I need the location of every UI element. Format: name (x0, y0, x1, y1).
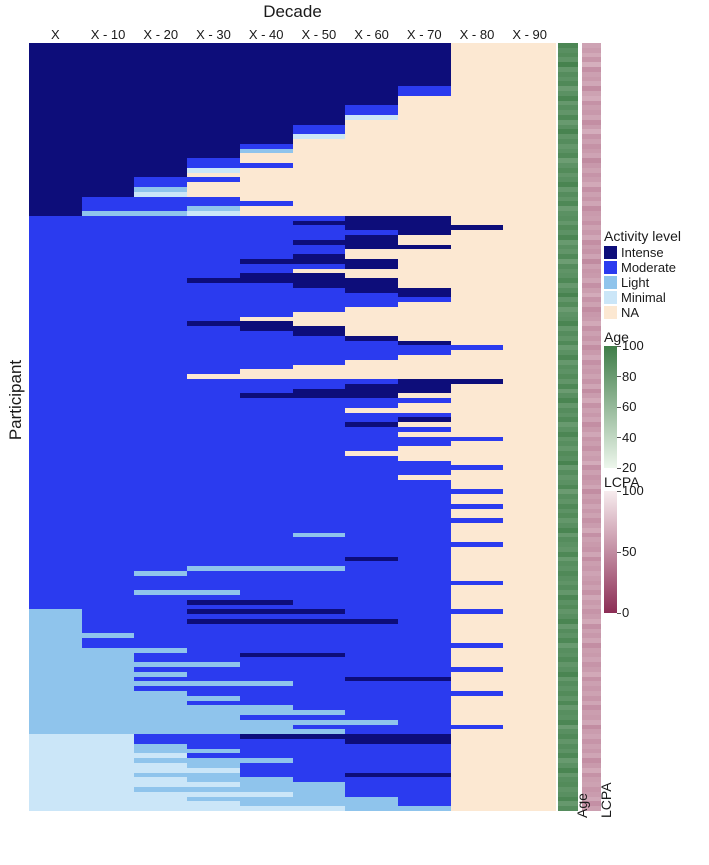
legend-swatch-icon (604, 261, 617, 274)
heatmap-cell (345, 806, 451, 811)
lcpa-colorbar (604, 491, 617, 613)
colorbar-tick-label: 40 (622, 430, 636, 445)
column-header-7: X - 70 (398, 27, 451, 43)
colorbar-tick-label: 80 (622, 369, 636, 384)
column-header-8: X - 80 (451, 27, 504, 43)
colorbar-tick-label: 100 (622, 483, 644, 498)
chart-title: Decade (29, 2, 556, 22)
legend-item-moderate[interactable]: Moderate (604, 260, 709, 275)
colorbar-tickmark-icon (617, 346, 621, 347)
heatmap-cell (451, 806, 556, 811)
lcpa-colorbar-wrap: 100500 (604, 491, 709, 613)
column-header-row: XX - 10X - 20X - 30X - 40X - 50X - 60X -… (29, 27, 556, 43)
age-colorbar (604, 346, 617, 468)
lcpa-annotation-strip (582, 43, 601, 811)
heatmap-figure: Decade XX - 10X - 20X - 30X - 40X - 50X … (0, 0, 709, 865)
colorbar-tick-label: 0 (622, 605, 629, 620)
colorbar-tickmark-icon (617, 468, 621, 469)
column-header-3: X - 30 (187, 27, 240, 43)
legend-item-label: Light (621, 276, 649, 289)
legend-lcpa-title: LCPA (604, 474, 709, 490)
legend-item-minimal[interactable]: Minimal (604, 290, 709, 305)
column-header-1: X - 10 (82, 27, 135, 43)
colorbar-tickmark-icon (617, 437, 621, 438)
colorbar-tickmark-icon (617, 376, 621, 377)
legend-item-na[interactable]: NA (604, 305, 709, 320)
heatmap-row (29, 806, 556, 811)
heatmap-cell (29, 806, 346, 811)
column-header-5: X - 50 (293, 27, 346, 43)
age-annotation-strip (558, 43, 578, 811)
column-header-4: X - 40 (240, 27, 293, 43)
lcpa-strip-label: LCPA (598, 782, 614, 818)
legend: Activity level IntenseModerateLightMinim… (604, 228, 709, 613)
colorbar-tick-label: 50 (622, 544, 636, 559)
legend-swatch-icon (604, 291, 617, 304)
age-strip-label: Age (574, 793, 590, 818)
column-header-0: X (29, 27, 82, 43)
legend-item-label: Minimal (621, 291, 666, 304)
legend-swatch-icon (604, 306, 617, 319)
colorbar-tick-label: 100 (622, 338, 644, 353)
column-header-9: X - 90 (503, 27, 556, 43)
legend-item-label: NA (621, 306, 639, 319)
colorbar-tick-label: 20 (622, 460, 636, 475)
legend-item-label: Moderate (621, 261, 676, 274)
colorbar-tick-label: 60 (622, 399, 636, 414)
colorbar-tickmark-icon (617, 491, 621, 492)
y-axis-title: Participant (6, 340, 26, 460)
legend-item-label: Intense (621, 246, 664, 259)
legend-item-intense[interactable]: Intense (604, 245, 709, 260)
legend-age-title: Age (604, 329, 709, 345)
lcpa-colorbar-ticks: 100500 (617, 491, 697, 613)
legend-swatch-icon (604, 246, 617, 259)
legend-activity-items: IntenseModerateLightMinimalNA (604, 245, 709, 320)
colorbar-tickmark-icon (617, 407, 621, 408)
age-colorbar-wrap: 10080604020 (604, 346, 709, 468)
legend-item-light[interactable]: Light (604, 275, 709, 290)
colorbar-tickmark-icon (617, 613, 621, 614)
age-colorbar-ticks: 10080604020 (617, 346, 697, 468)
column-header-6: X - 60 (345, 27, 398, 43)
column-header-2: X - 20 (134, 27, 187, 43)
legend-swatch-icon (604, 276, 617, 289)
heatmap-panel (29, 43, 556, 811)
legend-activity-title: Activity level (604, 228, 709, 244)
colorbar-tickmark-icon (617, 552, 621, 553)
